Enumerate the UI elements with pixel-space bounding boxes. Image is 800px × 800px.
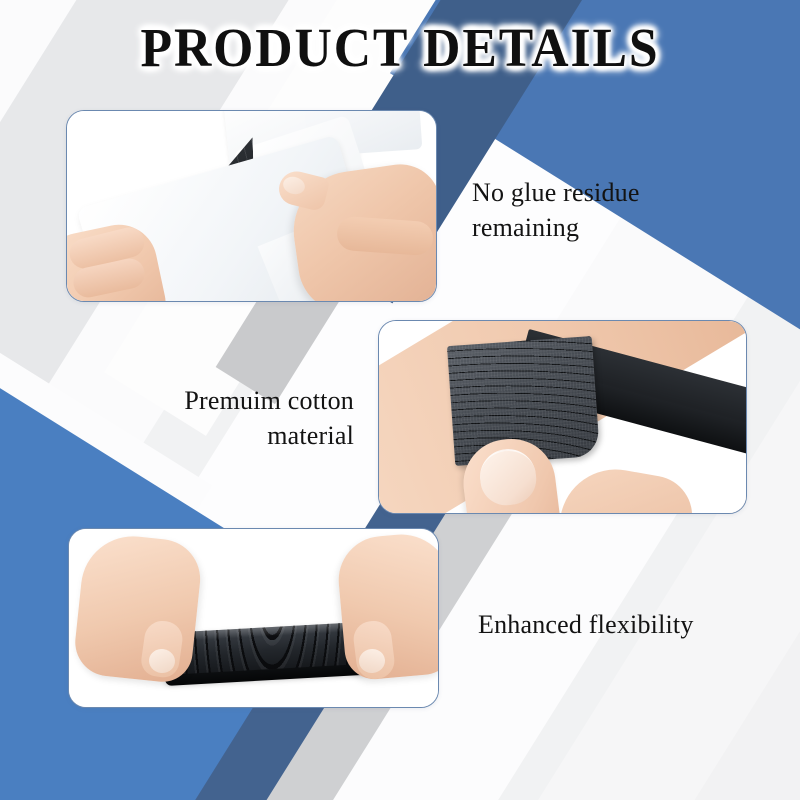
page-title: PRODUCT DETAILS bbox=[24, 16, 776, 79]
left-hand bbox=[72, 531, 204, 685]
feature-photo-panel-premium-cotton bbox=[378, 320, 747, 514]
caption-line: remaining bbox=[472, 211, 722, 246]
feature-photo-panel-no-glue-residue bbox=[66, 110, 437, 302]
feature-caption-premium-cotton: Premuim cotton material bbox=[132, 384, 354, 454]
photo-stretching-tape bbox=[69, 529, 438, 707]
photo-tape-on-arm bbox=[379, 321, 746, 513]
caption-line: material bbox=[132, 419, 354, 454]
feature-caption-enhanced-flexibility: Enhanced flexibility bbox=[478, 608, 748, 643]
feature-photo-panel-enhanced-flexibility bbox=[68, 528, 439, 708]
feature-caption-no-glue-residue: No glue residue remaining bbox=[472, 176, 722, 246]
right-hand-finger bbox=[336, 216, 434, 257]
caption-line: Enhanced flexibility bbox=[478, 608, 748, 643]
corner-band-bottom-left-blue-light bbox=[0, 230, 510, 800]
product-details-poster: PRODUCT DETAILS No glue residue remainin… bbox=[0, 0, 800, 800]
caption-line: Premuim cotton bbox=[132, 384, 354, 419]
caption-line: No glue residue bbox=[472, 176, 722, 211]
photo-peeling-tape bbox=[67, 111, 436, 301]
